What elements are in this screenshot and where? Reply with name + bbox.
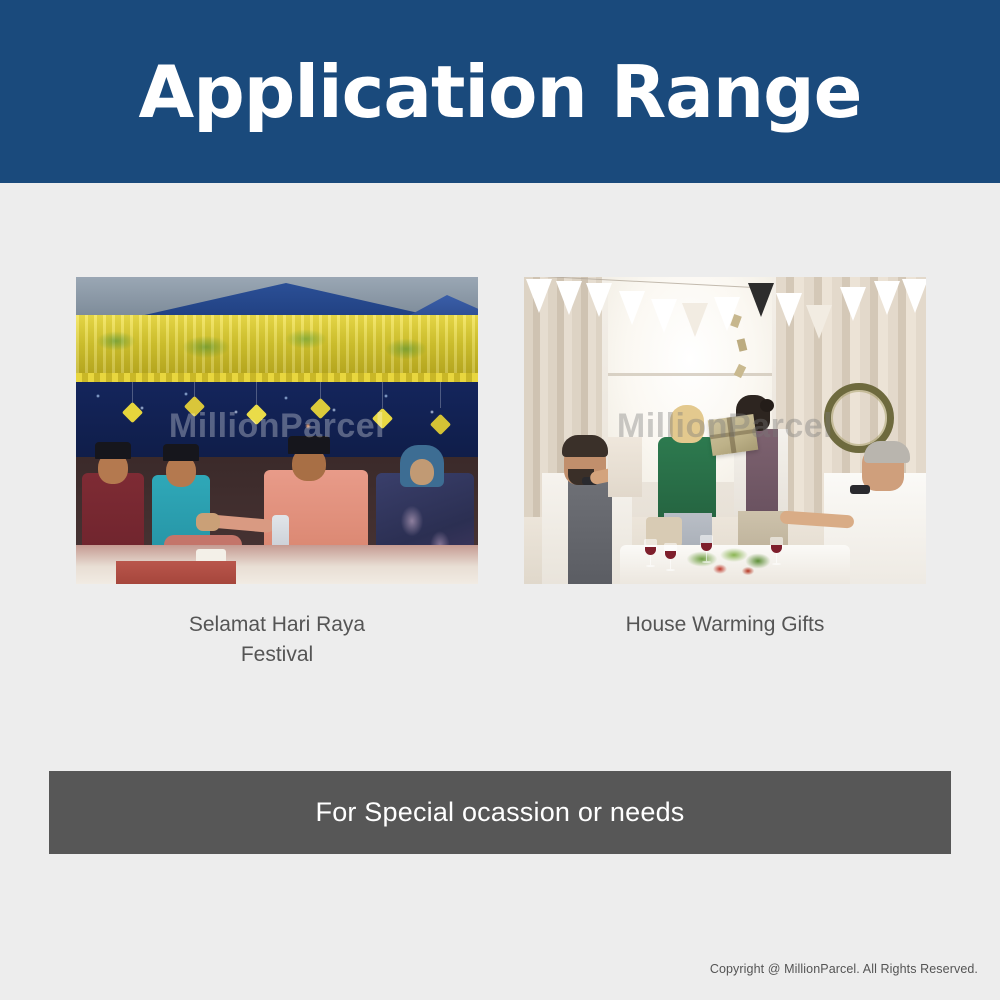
bunting-flag <box>586 283 612 317</box>
card-hari-raya[interactable]: MillionParcel Selamat Hari Raya Festival <box>76 277 478 670</box>
bunting-flag <box>651 299 677 333</box>
content-area: MillionParcel Selamat Hari Raya Festival <box>0 183 1000 1000</box>
wine-glass <box>770 537 783 567</box>
person-hair-grey <box>864 441 910 463</box>
bunting-flag <box>526 279 552 313</box>
hair-bun <box>760 399 774 412</box>
application-range-cards: MillionParcel Selamat Hari Raya Festival <box>76 277 926 670</box>
person-behind-left <box>608 437 642 497</box>
photo-hari-raya-festival: MillionParcel <box>76 277 478 584</box>
ketupat-string <box>382 382 383 408</box>
bunting-flag <box>840 287 866 321</box>
card-house-warming[interactable]: MillionParcel House Warming Gifts <box>524 277 926 670</box>
person-seated-left-vest <box>568 481 612 584</box>
card-caption-house-warming: House Warming Gifts <box>626 610 825 640</box>
bunting-flag-dark <box>748 283 774 317</box>
bunting-flag <box>874 281 900 315</box>
bunting-flag <box>556 281 582 315</box>
wine-glass <box>644 539 657 569</box>
festival-green-decor <box>76 321 478 373</box>
songkok-hat <box>95 442 131 459</box>
salad-bowl <box>680 543 776 581</box>
person-face <box>410 459 434 485</box>
cta-text: For Special ocassion or needs <box>316 797 685 828</box>
flower-vase <box>652 489 674 519</box>
photo-house-warming-gifts: MillionParcel <box>524 277 926 584</box>
bunting-flag-dotted <box>682 303 708 337</box>
handshake-hands <box>196 513 220 531</box>
window-frame <box>608 373 772 376</box>
card-caption-hari-raya: Selamat Hari Raya Festival <box>189 610 365 670</box>
bunting-flag <box>776 293 802 327</box>
bunting-flag <box>902 279 926 313</box>
ketupat-string <box>440 382 441 408</box>
wrapped-gift <box>708 414 759 456</box>
bow-tie <box>850 485 870 494</box>
wine-glass <box>664 543 677 573</box>
header-banner: Application Range <box>0 0 1000 183</box>
table-cloth <box>116 561 236 584</box>
wine-glass <box>700 535 713 565</box>
page-title: Application Range <box>139 56 862 128</box>
songkok-hat <box>163 444 199 461</box>
person-hair-blonde <box>670 405 704 443</box>
copyright-notice: Copyright @ MillionParcel. All Rights Re… <box>710 962 978 976</box>
songkok-hat <box>288 436 330 454</box>
bunting-flag <box>619 291 645 325</box>
cta-banner[interactable]: For Special ocassion or needs <box>49 771 951 854</box>
bunting-flag-dotted <box>806 305 832 339</box>
person-hair <box>562 435 608 457</box>
